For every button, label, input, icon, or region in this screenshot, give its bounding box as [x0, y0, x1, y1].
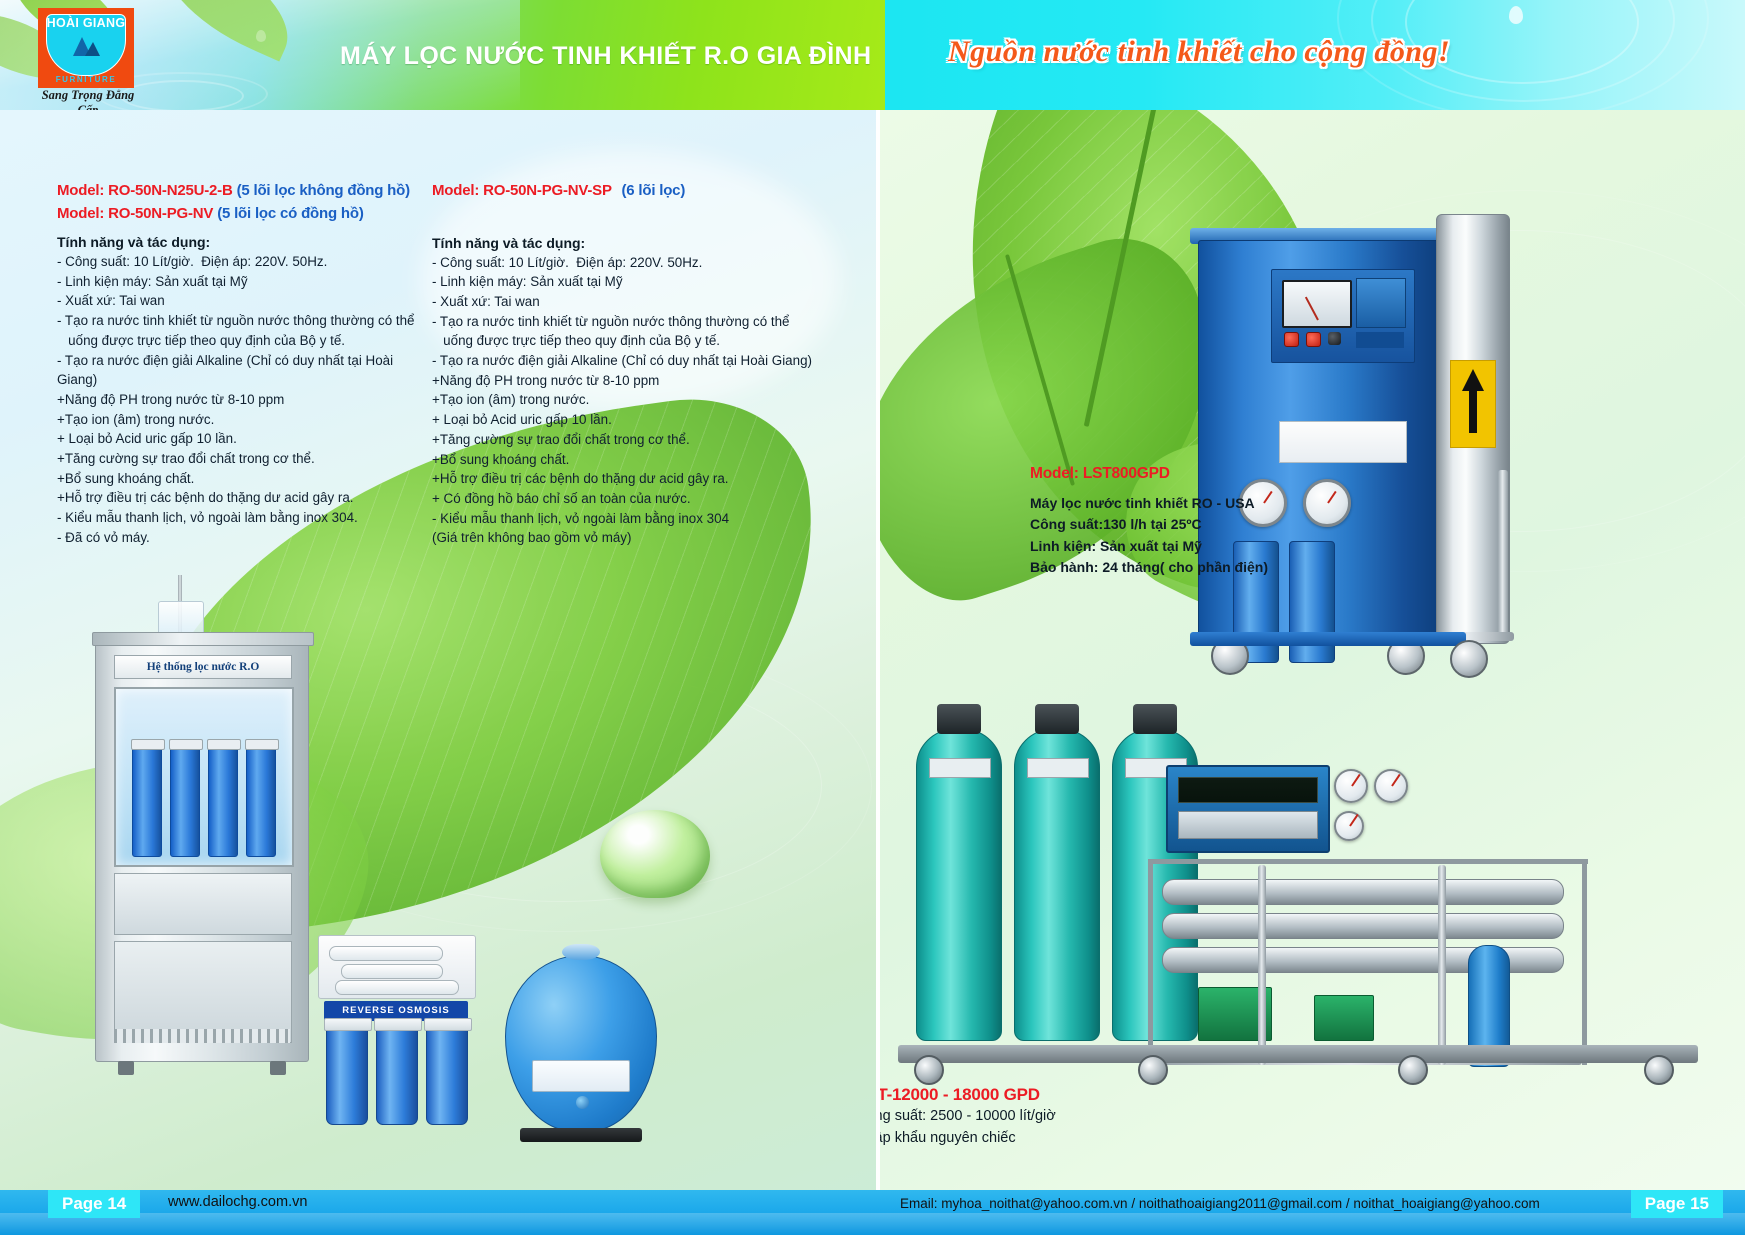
model-note: (5 lõi lọc không đồng hồ): [237, 182, 410, 199]
water-droplet-illustration: [600, 810, 710, 898]
header-left-band: HOÀI GIANG FURNITURE Sang Trọng Đẳng Cấp…: [0, 0, 885, 110]
ro-housing: [326, 1027, 368, 1125]
feature-item: - Tạo ra nước điện giải Alkaline (Chỉ có…: [57, 351, 427, 390]
caster-wheel: [1644, 1055, 1674, 1085]
feature-item: - Đã có vỏ máy.: [57, 528, 427, 548]
filter-cap: [207, 739, 241, 750]
caption-line: Công suất: 2500 - 10000 lít/giờ: [878, 1105, 1276, 1127]
skid-frame-bar: [1148, 859, 1588, 864]
lst12000-caption: LST-12000 - 18000 GPD Công suất: 2500 - …: [878, 1085, 1276, 1149]
pump-motor: [1314, 995, 1374, 1041]
feature-item: - Xuất xứ: Tai wan: [432, 292, 812, 312]
right-page: Model: LST800GPD Máy lọc nước tinh khiết…: [878, 110, 1745, 1235]
footer-wave: [878, 1213, 1745, 1235]
lst12000-product: [878, 695, 1745, 1115]
arrow-shaft-icon: [1469, 389, 1477, 433]
feature-item: +Tạo ion (âm) trong nước.: [432, 390, 812, 410]
ro-inline-filter: [341, 964, 443, 979]
feature-item: - Xuất xứ: Tai wan: [57, 291, 427, 311]
filter-cartridge: [132, 747, 162, 857]
feature-item: - Tạo ra nước điện giải Alkaline (Chỉ có…: [432, 351, 812, 371]
lst-right-label: [1356, 278, 1406, 328]
feature-item: +Hỗ trợ điều trị các bệnh do thặng dư ac…: [57, 488, 427, 508]
page-divider: [876, 110, 880, 1235]
feature-item: +Năng độ PH trong nước từ 8-10 ppm: [57, 390, 427, 410]
model-note: (6 lõi lọc): [621, 182, 685, 199]
media-tank: [916, 729, 1002, 1041]
meter-needle: [1305, 297, 1319, 321]
tank-tag: [929, 758, 991, 778]
lst800gpd-product: [1168, 170, 1598, 700]
lst-mode-button[interactable]: [1328, 332, 1341, 345]
logo-sub-text: FURNITURE: [38, 75, 134, 84]
cabinet-vent-grille: [114, 1029, 290, 1043]
feature-item: + Loại bỏ Acid uric gấp 10 lần.: [432, 410, 812, 430]
feature-item: +Tạo ion (âm) trong nước.: [57, 410, 427, 430]
filter-cap: [169, 739, 203, 750]
ro-inline-filter: [329, 946, 443, 961]
page-title: MÁY LỌC NƯỚC TINH KHIẾT R.O GIA ĐÌNH: [340, 42, 871, 71]
tank-label: [532, 1060, 630, 1092]
caption-line: Linh kiện: Sản xuất tại Mỹ: [1030, 536, 1360, 557]
lst-pipe: [1498, 470, 1508, 640]
tank-valve: [576, 1096, 589, 1109]
pressure-gauge-icon: [1374, 769, 1408, 803]
feature-item: +Tăng cường sự trao đổi chất trong cơ th…: [432, 430, 812, 450]
model-line: Model: RO-50N-N25U-2-B (5 lõi lọc không …: [57, 180, 427, 203]
media-tank: [1014, 729, 1100, 1041]
cabinet-foot: [270, 1061, 286, 1075]
website-url: www.dailochg.com.vn: [168, 1194, 307, 1210]
header-droplet-icon: [1509, 6, 1523, 24]
caster-wheel: [1398, 1055, 1428, 1085]
tank-valve-head: [937, 704, 981, 734]
filter-cartridge: [246, 747, 276, 857]
feature-item: +Hỗ trợ điều trị các bệnh do thặng dư ac…: [432, 469, 812, 489]
page-header: HOÀI GIANG FURNITURE Sang Trọng Đẳng Cấp…: [0, 0, 1745, 110]
spec-column-2: Model: RO-50N-PG-NV-SP (6 lõi lọc) Tính …: [432, 180, 812, 548]
cabinet-foot: [118, 1061, 134, 1075]
pressure-gauge-icon: [1334, 811, 1364, 841]
caster-wheel: [914, 1055, 944, 1085]
spec-column-1: Model: RO-50N-N25U-2-B (5 lõi lọc không …: [57, 180, 427, 548]
feature-item: + Có đồng hồ báo chỉ số an toàn của nước…: [432, 489, 812, 509]
arrow-up-icon: [1462, 369, 1484, 391]
logo-tagline: Sang Trọng Đẳng Cấp: [30, 88, 146, 110]
caption-line: Nhập khẩu nguyên chiếc: [878, 1127, 1276, 1149]
feature-item: - Kiểu mẫu thanh lịch, vỏ ngoài làm bằng…: [432, 509, 812, 529]
cabinet-label: Hệ thống lọc nước R.O: [114, 655, 292, 679]
features-heading: Tính năng và tác dụng:: [57, 234, 427, 250]
left-page: Model: RO-50N-N25U-2-B (5 lõi lọc không …: [0, 110, 878, 1235]
feature-item: + Loại bỏ Acid uric gấp 10 lần.: [57, 429, 427, 449]
caster-wheel: [1138, 1055, 1168, 1085]
skid-control-panel: [1166, 765, 1330, 853]
features-heading: Tính năng và tác dụng:: [432, 235, 812, 251]
caption-line: Bảo hành: 24 tháng( cho phần điện): [1030, 557, 1360, 578]
lst-vessel-warning-label: [1450, 360, 1496, 448]
filter-cartridge: [170, 747, 200, 857]
ro-housing: [426, 1027, 468, 1125]
ro-membrane-vessel: [1162, 879, 1564, 905]
skid-digital-display: [1178, 777, 1318, 803]
filter-cap: [245, 739, 279, 750]
ro-housing-cap: [324, 1018, 372, 1031]
lst-meter-display: [1282, 280, 1352, 328]
model-line: Model: RO-50N-PG-NV (5 lõi lọc có đồng h…: [57, 203, 427, 226]
skid-secondary-display: [1178, 811, 1318, 839]
skid-pipe: [1438, 865, 1446, 1065]
page-number-badge-right: Page 15: [1631, 1190, 1723, 1218]
feature-item: - Công suất: 10 Lít/giờ. Điện áp: 220V. …: [57, 252, 427, 272]
ro-cabinet-product: Hệ thống lọc nước R.O: [95, 640, 309, 1062]
tank-valve-head: [1133, 704, 1177, 734]
tank-tag: [1027, 758, 1089, 778]
feature-item: - Công suất: 10 Lít/giờ. Điện áp: 220V. …: [432, 253, 812, 273]
filter-cap: [131, 739, 165, 750]
logo-monogram-icon: [69, 34, 103, 56]
feature-item: - Linh kiện máy: Sản xuất tại Mỹ: [57, 272, 427, 292]
lst-power-button[interactable]: [1284, 332, 1299, 347]
logo-brand-text: HOÀI GIANG: [38, 16, 134, 30]
left-page-footer: Page 14 www.dailochg.com.vn: [0, 1190, 878, 1235]
cabinet-window: [114, 687, 294, 867]
pressure-gauge-icon: [1334, 769, 1368, 803]
feature-item: - Tạo ra nước tinh khiết từ nguồn nước t…: [57, 311, 427, 350]
brochure-page: HOÀI GIANG FURNITURE Sang Trọng Đẳng Cấp…: [0, 0, 1745, 1235]
caption-line: Máy lọc nước tinh khiết RO - USA: [1030, 493, 1360, 514]
caption-model: Model: LST800GPD: [1030, 465, 1360, 483]
pressure-tank-product: [505, 955, 657, 1132]
page-body: Model: RO-50N-N25U-2-B (5 lõi lọc không …: [0, 110, 1745, 1235]
skid-pipe: [1258, 865, 1266, 1065]
header-droplet-icon: [256, 30, 266, 42]
caption-line: Công suất:130 l/h tại 25ºC: [1030, 514, 1360, 535]
skid-frame-bar: [1582, 859, 1587, 1065]
feature-item: - Linh kiện máy: Sản xuất tại Mỹ: [432, 272, 812, 292]
email-addresses: Email: myhoa_noithat@yahoo.com.vn / noit…: [900, 1196, 1540, 1211]
ro-housing-cap: [374, 1018, 422, 1031]
feature-item: - Tạo ra nước tinh khiết từ nguồn nước t…: [432, 312, 812, 351]
cabinet-middle-panel: [114, 873, 292, 935]
feature-item: +Năng độ PH trong nước từ 8-10 ppm: [432, 371, 812, 391]
feature-item: - Kiểu mẫu thanh lịch, vỏ ngoài làm bằng…: [57, 508, 427, 528]
cabinet-door: [114, 941, 292, 1043]
lst-base-frame: [1190, 632, 1466, 646]
filter-cartridge: [208, 747, 238, 857]
skid-frame-bar: [1148, 859, 1153, 1065]
ro-housing-cap: [424, 1018, 472, 1031]
feature-item: +Tăng cường sự trao đổi chất trong cơ th…: [57, 449, 427, 469]
lst-stop-button[interactable]: [1306, 332, 1321, 347]
tank-base: [520, 1128, 642, 1142]
feature-item: +Bổ sung khoáng chất.: [57, 469, 427, 489]
model-code: Model: RO-50N-PG-NV: [57, 205, 213, 222]
model-note: (5 lõi lọc có đồng hồ): [217, 205, 363, 222]
header-slogan: Nguồn nước tinh khiết cho cộng đồng!: [948, 35, 1450, 69]
ro-membrane-vessel: [1162, 913, 1564, 939]
ro-housing: [376, 1027, 418, 1125]
lst-control-panel: [1271, 269, 1415, 363]
lst-right-label-2: [1356, 332, 1404, 348]
tank-inlet: [562, 944, 600, 960]
ro-filter-assembly-product: REVERSE OSMOSIS: [318, 935, 474, 1123]
model-code: Model: RO-50N-N25U-2-B: [57, 182, 233, 199]
lst-cabinet: [1198, 240, 1440, 642]
ro-skid-assembly: [1138, 755, 1608, 1055]
model-line: Model: RO-50N-PG-NV-SP (6 lõi lọc): [432, 180, 812, 203]
model-code: Model: RO-50N-PG-NV-SP: [432, 182, 612, 199]
feature-item: +Bổ sung khoáng chất.: [432, 450, 812, 470]
caption-model: LST-12000 - 18000 GPD: [878, 1085, 1276, 1105]
page-number-badge-left: Page 14: [48, 1190, 140, 1218]
tank-valve-head: [1035, 704, 1079, 734]
lst-sticker: [1279, 421, 1407, 463]
ro-inline-filter: [335, 980, 459, 995]
right-page-footer: Email: myhoa_noithat@yahoo.com.vn / noit…: [878, 1190, 1745, 1235]
feature-item: (Giá trên không bao gồm vỏ máy): [432, 528, 812, 548]
cabinet-top: [92, 632, 314, 646]
lst800gpd-caption: Model: LST800GPD Máy lọc nước tinh khiết…: [1030, 465, 1360, 578]
company-logo: HOÀI GIANG FURNITURE: [38, 8, 134, 88]
ro-manifold: [318, 935, 476, 999]
skid-base-frame: [898, 1045, 1698, 1063]
caster-wheel: [1450, 640, 1488, 678]
